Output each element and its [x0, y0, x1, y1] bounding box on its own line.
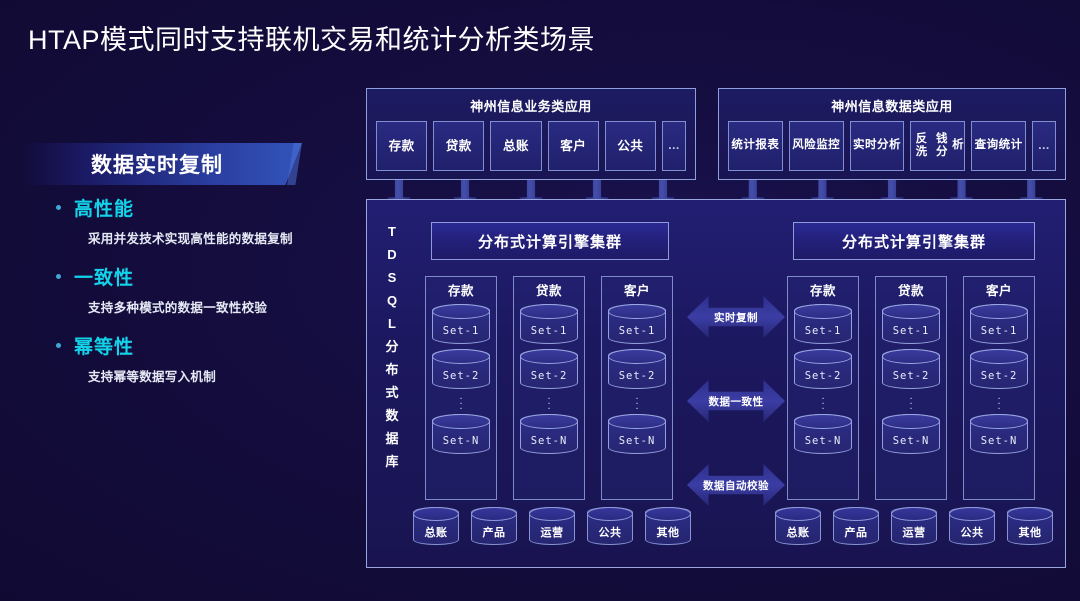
application-panel-business: 神州信息业务类应用 存款贷款总账客户公共… — [366, 88, 696, 180]
page-title: HTAP模式同时支持联机交易和统计分析类场景 — [28, 18, 595, 57]
set-label: Set-1 — [795, 318, 851, 343]
bottom-cylinder-row-left: 总账产品运营公共其他 — [413, 507, 691, 545]
bottom-database-cylinder[interactable]: 公共 — [949, 507, 995, 545]
set-column: 客户Set-1Set-2...Set-N — [963, 276, 1035, 500]
bullet-title: 高性能 — [74, 194, 134, 221]
application-cell-row: 统计报表风险监控实时分析反洗钱分析查询统计… — [719, 115, 1065, 171]
application-cell[interactable]: 客户 — [548, 121, 599, 171]
tdsql-label-char: Q — [379, 289, 405, 312]
database-set-cylinder[interactable]: Set-1 — [432, 304, 490, 344]
bottom-database-cylinder[interactable]: 运营 — [891, 507, 937, 545]
tdsql-vertical-label: TDSQL分布式数据库 — [379, 220, 405, 473]
section-banner: 数据实时复制 — [26, 143, 302, 185]
vertical-ellipsis-icon: ... — [788, 394, 858, 409]
database-set-cylinder[interactable]: Set-1 — [608, 304, 666, 344]
compute-engine-cluster-right: 分布式计算引擎集群 — [793, 222, 1035, 260]
set-label: Set-2 — [883, 363, 939, 388]
application-cell-label: 查询 — [975, 139, 999, 152]
set-column-title: 贷款 — [514, 280, 584, 299]
list-item: 一致性 支持多种模式的数据一致性校验 — [56, 263, 356, 316]
set-column: 存款Set-1Set-2...Set-N — [425, 276, 497, 500]
bottom-cylinder-label: 运营 — [892, 519, 936, 544]
set-column-title: 客户 — [602, 280, 672, 299]
bullet-description: 支持幂等数据写入机制 — [88, 366, 356, 385]
set-column-title: 存款 — [788, 280, 858, 299]
database-set-cylinder[interactable]: Set-N — [432, 414, 490, 454]
application-cell-row: 存款贷款总账客户公共… — [367, 115, 695, 171]
bullet-description: 采用并发技术实现高性能的数据复制 — [88, 228, 356, 247]
panel-title: 神州信息数据类应用 — [719, 89, 1065, 115]
application-cell[interactable]: 实时分析 — [850, 121, 905, 171]
database-set-cylinder[interactable]: Set-N — [794, 414, 852, 454]
database-set-cylinder[interactable]: Set-1 — [520, 304, 578, 344]
bottom-cylinder-label: 总账 — [776, 519, 820, 544]
sync-arrow-data-consistency: 数据一致性 — [687, 380, 785, 422]
bottom-cylinder-label: 公共 — [588, 519, 632, 544]
tdsql-label-char: S — [379, 266, 405, 289]
bottom-cylinder-label: 产品 — [472, 519, 516, 544]
architecture-diagram: 神州信息业务类应用 存款贷款总账客户公共… 神州信息数据类应用 统计报表风险监控… — [366, 88, 1066, 568]
database-set-cylinder[interactable]: Set-2 — [970, 349, 1028, 389]
set-column: 贷款Set-1Set-2...Set-N — [513, 276, 585, 500]
application-cell-label: 风险 — [792, 139, 816, 152]
bottom-database-cylinder[interactable]: 运营 — [529, 507, 575, 545]
tdsql-label-char: 式 — [379, 381, 405, 404]
vertical-ellipsis-icon: ... — [964, 394, 1034, 409]
sync-arrow-label: 数据自动校验 — [703, 478, 769, 493]
set-column-title: 贷款 — [876, 280, 946, 299]
compute-engine-cluster-left: 分布式计算引擎集群 — [431, 222, 669, 260]
application-cell-label: 实时 — [853, 139, 877, 152]
set-label: Set-1 — [609, 318, 665, 343]
set-column: 存款Set-1Set-2...Set-N — [787, 276, 859, 500]
database-set-cylinder[interactable]: Set-2 — [608, 349, 666, 389]
set-label: Set-2 — [795, 363, 851, 388]
set-label: Set-N — [609, 428, 665, 453]
set-label: Set-1 — [971, 318, 1027, 343]
set-label: Set-N — [971, 428, 1027, 453]
application-cell[interactable]: 统计报表 — [728, 121, 783, 171]
bullet-dot-icon — [56, 274, 61, 279]
vertical-ellipsis-icon: ... — [514, 394, 584, 409]
set-column-title: 客户 — [964, 280, 1034, 299]
database-set-cylinder[interactable]: Set-2 — [432, 349, 490, 389]
database-set-cylinder[interactable]: Set-N — [882, 414, 940, 454]
application-cell[interactable]: 总账 — [490, 121, 541, 171]
set-label: Set-1 — [433, 318, 489, 343]
banner-label: 数据实时复制 — [26, 143, 302, 185]
application-cell[interactable]: … — [1032, 121, 1056, 171]
set-label: Set-2 — [609, 363, 665, 388]
bottom-database-cylinder[interactable]: 产品 — [471, 507, 517, 545]
application-cell[interactable]: 贷款 — [433, 121, 484, 171]
set-label: Set-N — [433, 428, 489, 453]
set-column-title: 存款 — [426, 280, 496, 299]
application-cell-label: 存款 — [389, 139, 415, 153]
application-cell-label: 监控 — [816, 139, 840, 152]
set-label: Set-2 — [521, 363, 577, 388]
panel-title: 神州信息业务类应用 — [367, 89, 695, 115]
database-set-cylinder[interactable]: Set-N — [520, 414, 578, 454]
application-cell-label: 公共 — [617, 139, 643, 153]
tdsql-label-char: 分 — [379, 335, 405, 358]
tdsql-label-char: 库 — [379, 450, 405, 473]
database-set-cylinder[interactable]: Set-2 — [520, 349, 578, 389]
tdsql-panel: TDSQL分布式数据库 分布式计算引擎集群 存款Set-1Set-2...Set… — [366, 199, 1066, 568]
tdsql-label-char: 据 — [379, 427, 405, 450]
set-label: Set-N — [795, 428, 851, 453]
sync-arrow-auto-verification: 数据自动校验 — [687, 464, 785, 506]
tdsql-label-char: L — [379, 312, 405, 335]
bottom-cylinder-label: 其他 — [646, 519, 690, 544]
application-cell-label: 分析 — [877, 139, 901, 152]
sync-arrow-label: 数据一致性 — [709, 394, 764, 409]
set-label: Set-N — [883, 428, 939, 453]
tdsql-label-char: 布 — [379, 358, 405, 381]
set-label: Set-2 — [433, 363, 489, 388]
list-item: 高性能 采用并发技术实现高性能的数据复制 — [56, 194, 356, 247]
bottom-database-cylinder[interactable]: 其他 — [1007, 507, 1053, 545]
tdsql-label-char: T — [379, 220, 405, 243]
application-cell-label: 反洗 — [911, 133, 931, 159]
bottom-cylinder-label: 运营 — [530, 519, 574, 544]
bullet-title: 一致性 — [74, 263, 134, 290]
set-column: 贷款Set-1Set-2...Set-N — [875, 276, 947, 500]
bullet-title: 幂等性 — [74, 332, 134, 359]
set-label: Set-N — [521, 428, 577, 453]
bottom-cylinder-label: 其他 — [1008, 519, 1052, 544]
set-label: Set-2 — [971, 363, 1027, 388]
application-cell-label: 统计 — [731, 139, 755, 152]
vertical-ellipsis-icon: ... — [876, 394, 946, 409]
set-column: 客户Set-1Set-2...Set-N — [601, 276, 673, 500]
application-cell-label: 析 — [952, 139, 964, 152]
database-set-cylinder[interactable]: Set-N — [970, 414, 1028, 454]
database-set-cylinder[interactable]: Set-2 — [882, 349, 940, 389]
application-cell[interactable]: … — [662, 121, 686, 171]
application-cell-label: … — [668, 139, 681, 153]
set-column-group-right: 存款Set-1Set-2...Set-N贷款Set-1Set-2...Set-N… — [787, 276, 1035, 500]
bottom-cylinder-label: 总账 — [414, 519, 458, 544]
bullet-dot-icon — [56, 205, 61, 210]
bottom-cylinder-label: 公共 — [950, 519, 994, 544]
bottom-database-cylinder[interactable]: 总账 — [775, 507, 821, 545]
bullet-dot-icon — [56, 343, 61, 348]
application-cell[interactable]: 公共 — [605, 121, 656, 171]
database-set-cylinder[interactable]: Set-2 — [794, 349, 852, 389]
application-panel-data: 神州信息数据类应用 统计报表风险监控实时分析反洗钱分析查询统计… — [718, 88, 1066, 180]
application-cell-label: 统计 — [999, 139, 1023, 152]
list-item: 幂等性 支持幂等数据写入机制 — [56, 332, 356, 385]
application-cell-label: … — [1038, 139, 1051, 153]
application-cell-label: 贷款 — [446, 139, 472, 153]
application-cell-label: 总账 — [503, 139, 529, 153]
set-column-group-left: 存款Set-1Set-2...Set-N贷款Set-1Set-2...Set-N… — [425, 276, 673, 500]
tdsql-label-char: D — [379, 243, 405, 266]
bottom-database-cylinder[interactable]: 总账 — [413, 507, 459, 545]
set-label: Set-1 — [883, 318, 939, 343]
bottom-database-cylinder[interactable]: 公共 — [587, 507, 633, 545]
application-cell-label: 报表 — [755, 139, 779, 152]
application-cell-label: 钱分 — [932, 133, 952, 159]
bottom-database-cylinder[interactable]: 产品 — [833, 507, 879, 545]
sync-arrow-label: 实时复制 — [714, 310, 758, 325]
feature-bullet-list: 高性能 采用并发技术实现高性能的数据复制 一致性 支持多种模式的数据一致性校验 … — [56, 194, 356, 401]
bullet-description: 支持多种模式的数据一致性校验 — [88, 297, 356, 316]
application-cell[interactable]: 反洗钱分析 — [910, 121, 965, 171]
application-cell[interactable]: 查询统计 — [971, 121, 1026, 171]
set-label: Set-1 — [521, 318, 577, 343]
database-set-cylinder[interactable]: Set-1 — [970, 304, 1028, 344]
tdsql-label-char: 数 — [379, 404, 405, 427]
database-set-cylinder[interactable]: Set-N — [608, 414, 666, 454]
database-set-cylinder[interactable]: Set-1 — [794, 304, 852, 344]
bottom-database-cylinder[interactable]: 其他 — [645, 507, 691, 545]
sync-arrow-realtime-replication: 实时复制 — [687, 296, 785, 338]
sync-arrow-group: 实时复制 数据一致性 数据自动校验 — [687, 200, 787, 567]
application-cell[interactable]: 存款 — [376, 121, 427, 171]
bottom-cylinder-row-right: 总账产品运营公共其他 — [775, 507, 1053, 545]
bottom-cylinder-label: 产品 — [834, 519, 878, 544]
application-cell[interactable]: 风险监控 — [789, 121, 844, 171]
vertical-ellipsis-icon: ... — [426, 394, 496, 409]
vertical-ellipsis-icon: ... — [602, 394, 672, 409]
application-cell-label: 客户 — [560, 139, 586, 153]
database-set-cylinder[interactable]: Set-1 — [882, 304, 940, 344]
